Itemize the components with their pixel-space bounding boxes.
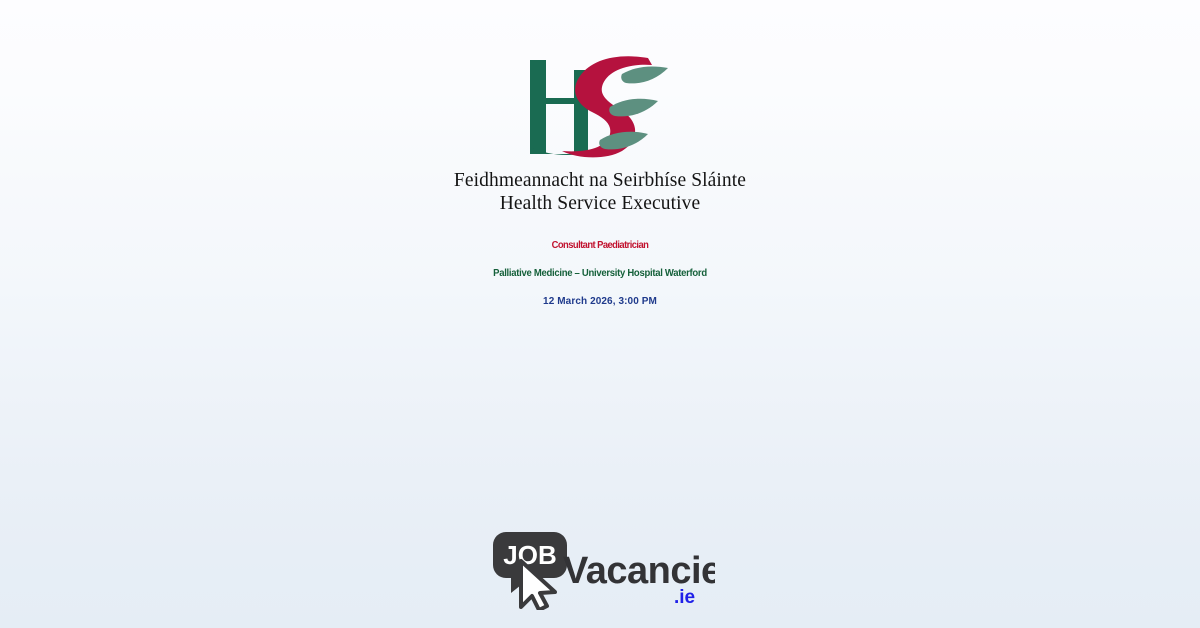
brand-word: Vacancies xyxy=(563,550,715,592)
brand-tld: .ie xyxy=(674,587,695,608)
headline-block: Consultant Paediatrician Palliative Medi… xyxy=(0,241,1200,306)
job-title: Consultant Paediatrician xyxy=(36,241,1164,251)
hse-logo: Feidhmeannacht na Seirbhíse Sláinte Heal… xyxy=(454,52,746,215)
job-closing-date: 12 March 2026, 3:00 PM xyxy=(0,296,1200,307)
hse-tagline: Feidhmeannacht na Seirbhíse Sláinte Heal… xyxy=(454,170,746,215)
hse-tagline-english: Health Service Executive xyxy=(454,193,746,216)
hse-logo-mark xyxy=(500,52,700,164)
job-vacancy-poster: Feidhmeannacht na Seirbhíse Sláinte Heal… xyxy=(0,0,1200,628)
jobvacancies-logo[interactable]: JOB Vacancies .ie xyxy=(485,525,715,610)
job-subtitle: Palliative Medicine – University Hospita… xyxy=(30,268,1170,279)
hse-tagline-irish: Feidhmeannacht na Seirbhíse Sláinte xyxy=(454,170,746,193)
jobvacancies-logo-mark: JOB Vacancies .ie xyxy=(485,525,715,610)
hse-letter-h-icon xyxy=(530,60,588,155)
bubble-label: JOB xyxy=(503,540,556,570)
